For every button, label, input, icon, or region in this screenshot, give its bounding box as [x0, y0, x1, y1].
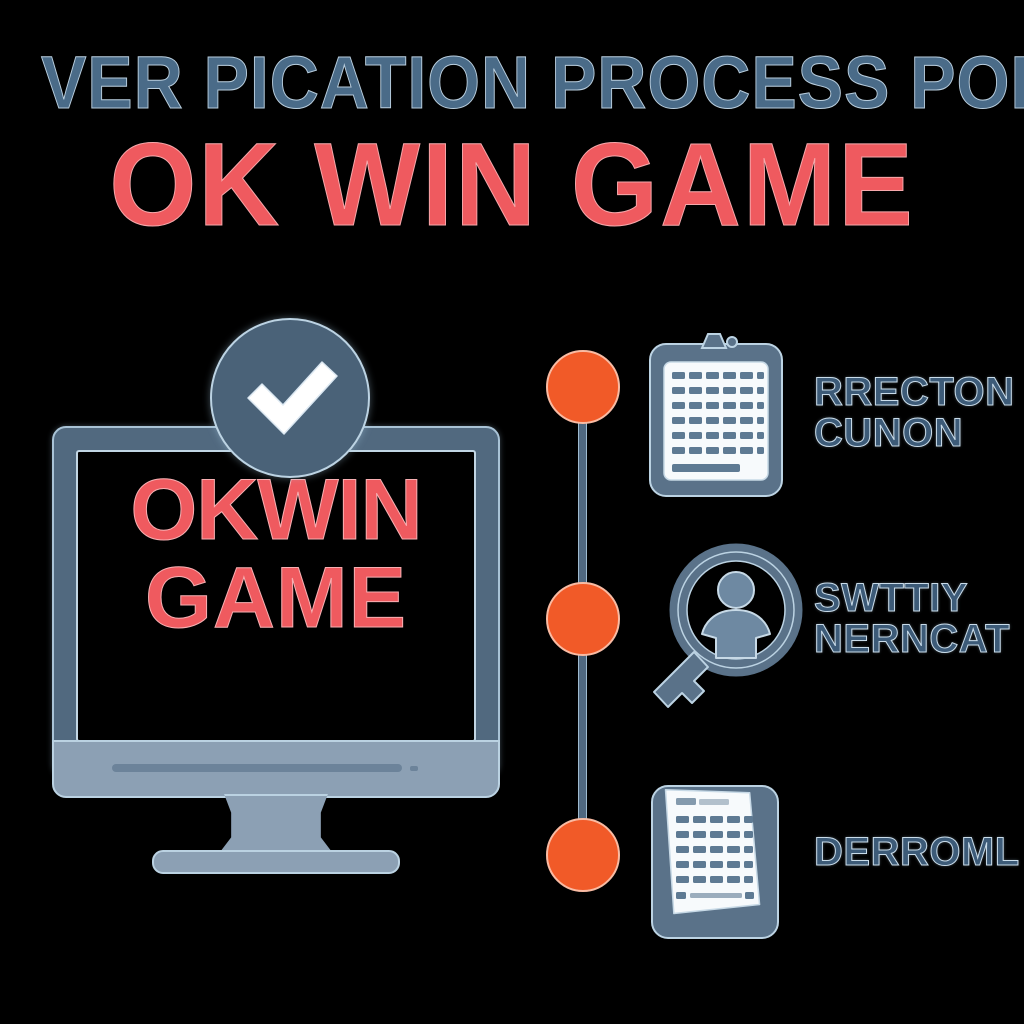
monitor-stand-neck: [217, 794, 335, 856]
poster-title: OK WIN GAME: [26, 126, 999, 244]
check-icon: [242, 354, 342, 446]
step-2-label-line-1: SWTTIY: [814, 578, 1024, 619]
timeline-step-icon-1: [646, 330, 786, 507]
timeline-step-icon-3: [646, 780, 786, 950]
infographic-poster: VER PICATION PROCESS POR OK WIN GAME OKW…: [0, 0, 1024, 1024]
monitor-chin: [52, 740, 500, 798]
monitor-screen: [76, 450, 476, 742]
step-1-label-line-2: CUNON: [814, 413, 1024, 454]
timeline-step-label-3: DERROML: [814, 832, 1024, 873]
monitor-illustration: OKWIN GAME: [42, 398, 510, 858]
monitor-power-indicator: [410, 766, 418, 771]
timeline-step-marker-1[interactable]: [546, 350, 620, 424]
clipboard-icon: [646, 330, 786, 502]
monitor-chin-slot: [112, 764, 402, 772]
step-1-label-line-1: RRECTON: [814, 372, 1024, 413]
verification-steps-timeline: RRECTON CUNON SWTTIY NERNCAT: [536, 330, 1024, 930]
monitor-stand-base: [152, 850, 400, 874]
timeline-step-icon-2: [646, 542, 806, 722]
step-2-label-line-2: NERNCAT: [814, 619, 1024, 660]
timeline-step-label-2: SWTTIY NERNCAT: [814, 578, 1024, 660]
poster-subtitle: VER PICATION PROCESS POR: [41, 46, 983, 120]
step-3-label-line-1: DERROML: [814, 832, 1024, 873]
verified-badge: [210, 318, 370, 478]
timeline-step-label-1: RRECTON CUNON: [814, 372, 1024, 454]
document-icon: [646, 780, 786, 945]
magnifier-person-icon: [646, 542, 806, 717]
timeline-step-marker-3[interactable]: [546, 818, 620, 892]
timeline-step-marker-2[interactable]: [546, 582, 620, 656]
